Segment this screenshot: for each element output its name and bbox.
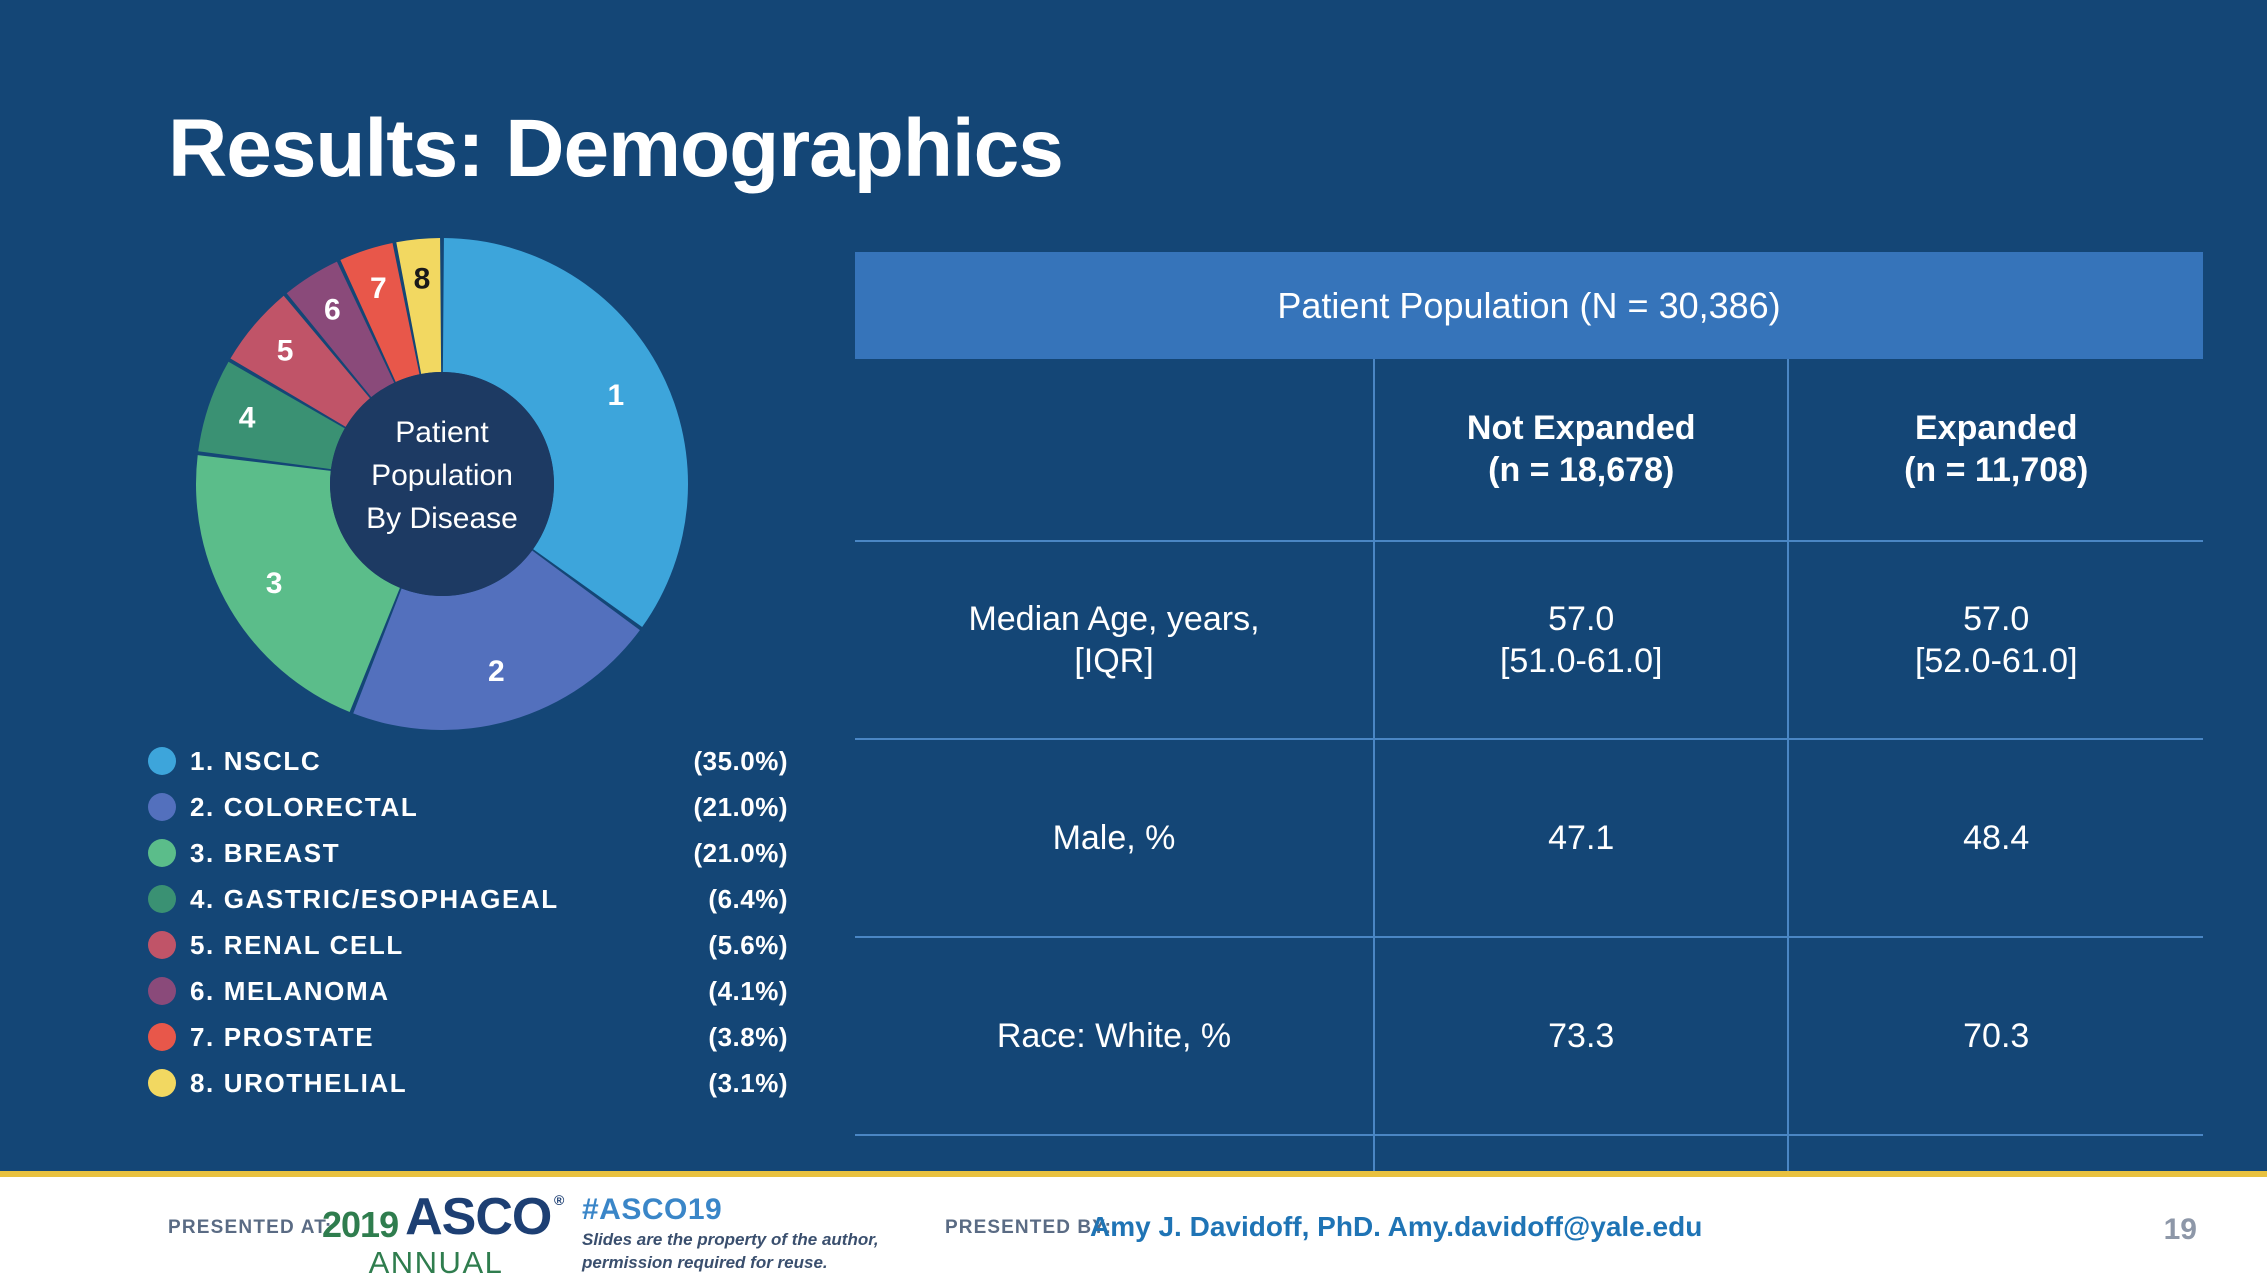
row-label: Male, % xyxy=(855,739,1374,937)
legend-item-label: 8. UROTHELIAL xyxy=(190,1068,407,1099)
row-label-line1: Race: White, % xyxy=(865,1015,1363,1058)
registered-trademark-icon: ® xyxy=(554,1193,563,1207)
donut-slice-label-8: 8 xyxy=(414,263,431,296)
row-label: Median Age, years,[IQR] xyxy=(855,541,1374,739)
cell-not-expanded: 73.3 xyxy=(1374,937,1789,1135)
cell-not-expanded-line1: 47.1 xyxy=(1385,817,1778,860)
table-body: Median Age, years,[IQR]57.0[51.0-61.0]57… xyxy=(855,541,2203,1275)
legend-item[interactable]: 1. NSCLC(35.0%) xyxy=(148,738,788,784)
cell-expanded-line1: 57.0 xyxy=(1799,598,2193,641)
legend-item[interactable]: 6. MELANOMA(4.1%) xyxy=(148,968,788,1014)
asco-year: 2019 xyxy=(322,1207,398,1243)
donut-slice-label-1: 1 xyxy=(607,379,624,412)
donut-slice-label-7: 7 xyxy=(370,272,387,305)
donut-center-line-1: Patient xyxy=(395,416,489,449)
cell-expanded: 48.4 xyxy=(1788,739,2203,937)
legend-item-percent: (21.0%) xyxy=(683,792,788,823)
row-label-line2: [IQR] xyxy=(865,640,1363,683)
donut-svg: Patient Population By Disease 12345678 xyxy=(196,238,688,730)
cell-not-expanded-line1: 57.0 xyxy=(1385,598,1778,641)
legend-swatch-icon xyxy=(148,977,176,1005)
legend-swatch-icon xyxy=(148,747,176,775)
legend-item-label: 5. RENAL CELL xyxy=(190,930,404,961)
cell-not-expanded-line1: 73.3 xyxy=(1385,1015,1778,1058)
legend-item-label: 4. GASTRIC/ESOPHAGEAL xyxy=(190,884,559,915)
cell-expanded: 57.0[52.0-61.0] xyxy=(1788,541,2203,739)
demographics-table: Not Expanded (n = 18,678) Expanded (n = … xyxy=(855,359,2203,1275)
asco-subtitle: ANNUAL MEETING xyxy=(322,1245,550,1275)
legend-item[interactable]: 3. BREAST(21.0%) xyxy=(148,830,788,876)
asco-wordmark-text: ASCO xyxy=(405,1188,551,1246)
asco-wordmark: ASCO ® xyxy=(405,1191,551,1243)
legend-swatch-icon xyxy=(148,839,176,867)
header-not-expanded-line1: Not Expanded xyxy=(1385,408,1778,449)
table-header-blank xyxy=(855,359,1374,541)
legend-item-percent: (35.0%) xyxy=(683,746,788,777)
cell-not-expanded: 57.0[51.0-61.0] xyxy=(1374,541,1789,739)
table-header-row: Not Expanded (n = 18,678) Expanded (n = … xyxy=(855,359,2203,541)
donut-slice-label-6: 6 xyxy=(324,293,341,326)
table-row: Race: White, %73.370.3 xyxy=(855,937,2203,1135)
cell-expanded-line1: 48.4 xyxy=(1799,817,2193,860)
header-not-expanded-line2: (n = 18,678) xyxy=(1385,450,1778,491)
disease-donut-chart: Patient Population By Disease 12345678 xyxy=(196,238,688,730)
legend-swatch-icon xyxy=(148,931,176,959)
demographics-table-container: Patient Population (N = 30,386) Not Expa… xyxy=(855,252,2203,1275)
cell-not-expanded: 47.1 xyxy=(1374,739,1789,937)
header-expanded-line1: Expanded xyxy=(1799,408,2193,449)
legend-item-percent: (21.0%) xyxy=(683,838,788,869)
reuse-disclaimer: Slides are the property of the author, p… xyxy=(582,1229,879,1275)
legend-item-percent: (3.8%) xyxy=(698,1022,788,1053)
legend-item[interactable]: 7. PROSTATE(3.8%) xyxy=(148,1014,788,1060)
legend-item[interactable]: 8. UROTHELIAL(3.1%) xyxy=(148,1060,788,1106)
legend-item-label: 3. BREAST xyxy=(190,838,340,869)
cell-expanded-line1: 70.3 xyxy=(1799,1015,2193,1058)
donut-slice-label-5: 5 xyxy=(277,334,294,367)
legend-item-label: 7. PROSTATE xyxy=(190,1022,374,1053)
cell-expanded-line2: [52.0-61.0] xyxy=(1799,640,2193,683)
donut-slice-label-3: 3 xyxy=(266,567,283,600)
table-header-expanded: Expanded (n = 11,708) xyxy=(1788,359,2203,541)
page-number: 19 xyxy=(2164,1213,2197,1247)
disclaimer-line-1: Slides are the property of the author, xyxy=(582,1229,879,1252)
legend-swatch-icon xyxy=(148,793,176,821)
legend-swatch-icon xyxy=(148,1069,176,1097)
legend-item-percent: (4.1%) xyxy=(698,976,788,1007)
donut-slice-label-4: 4 xyxy=(239,401,256,434)
cell-expanded: 70.3 xyxy=(1788,937,2203,1135)
slide-footer: PRESENTED AT: 2019 ASCO ® ANNUAL MEETING… xyxy=(0,1177,2267,1275)
table-row: Male, %47.148.4 xyxy=(855,739,2203,937)
event-hashtag: #ASCO19 xyxy=(582,1193,722,1227)
legend-item[interactable]: 4. GASTRIC/ESOPHAGEAL(6.4%) xyxy=(148,876,788,922)
disclaimer-line-2: permission required for reuse. xyxy=(582,1252,879,1275)
presented-at-label: PRESENTED AT: xyxy=(168,1217,332,1239)
legend-item-percent: (5.6%) xyxy=(698,930,788,961)
legend-swatch-icon xyxy=(148,1023,176,1051)
legend-item-label: 6. MELANOMA xyxy=(190,976,390,1007)
table-banner: Patient Population (N = 30,386) xyxy=(855,252,2203,359)
row-label-line1: Male, % xyxy=(865,817,1363,860)
page-title: Results: Demographics xyxy=(168,102,1063,196)
presented-by-label: PRESENTED BY: xyxy=(945,1217,1112,1239)
slide-canvas: Results: Demographics Patient Population… xyxy=(0,0,2267,1275)
table-header-not-expanded: Not Expanded (n = 18,678) xyxy=(1374,359,1789,541)
row-label-line1: Median Age, years, xyxy=(865,598,1363,641)
row-label: Race: White, % xyxy=(855,937,1374,1135)
cell-not-expanded-line2: [51.0-61.0] xyxy=(1385,640,1778,683)
donut-slice-label-2: 2 xyxy=(488,655,505,688)
legend-item[interactable]: 5. RENAL CELL(5.6%) xyxy=(148,922,788,968)
legend-item-percent: (6.4%) xyxy=(698,884,788,915)
table-row: Median Age, years,[IQR]57.0[51.0-61.0]57… xyxy=(855,541,2203,739)
header-expanded-line2: (n = 11,708) xyxy=(1799,450,2193,491)
legend-swatch-icon xyxy=(148,885,176,913)
asco-logo-top: 2019 ASCO ® xyxy=(322,1191,562,1243)
legend-item-label: 2. COLORECTAL xyxy=(190,792,418,823)
legend-item-percent: (3.1%) xyxy=(698,1068,788,1099)
presenter-name-and-email: Amy J. Davidoff, PhD. Amy.davidoff@yale.… xyxy=(1090,1211,1702,1243)
donut-center-line-2: Population xyxy=(371,459,513,492)
legend-item-label: 1. NSCLC xyxy=(190,746,321,777)
disease-legend: 1. NSCLC(35.0%)2. COLORECTAL(21.0%)3. BR… xyxy=(148,738,788,1106)
asco-logo: 2019 ASCO ® ANNUAL MEETING xyxy=(322,1191,562,1275)
legend-item[interactable]: 2. COLORECTAL(21.0%) xyxy=(148,784,788,830)
donut-center-line-3: By Disease xyxy=(366,502,518,535)
